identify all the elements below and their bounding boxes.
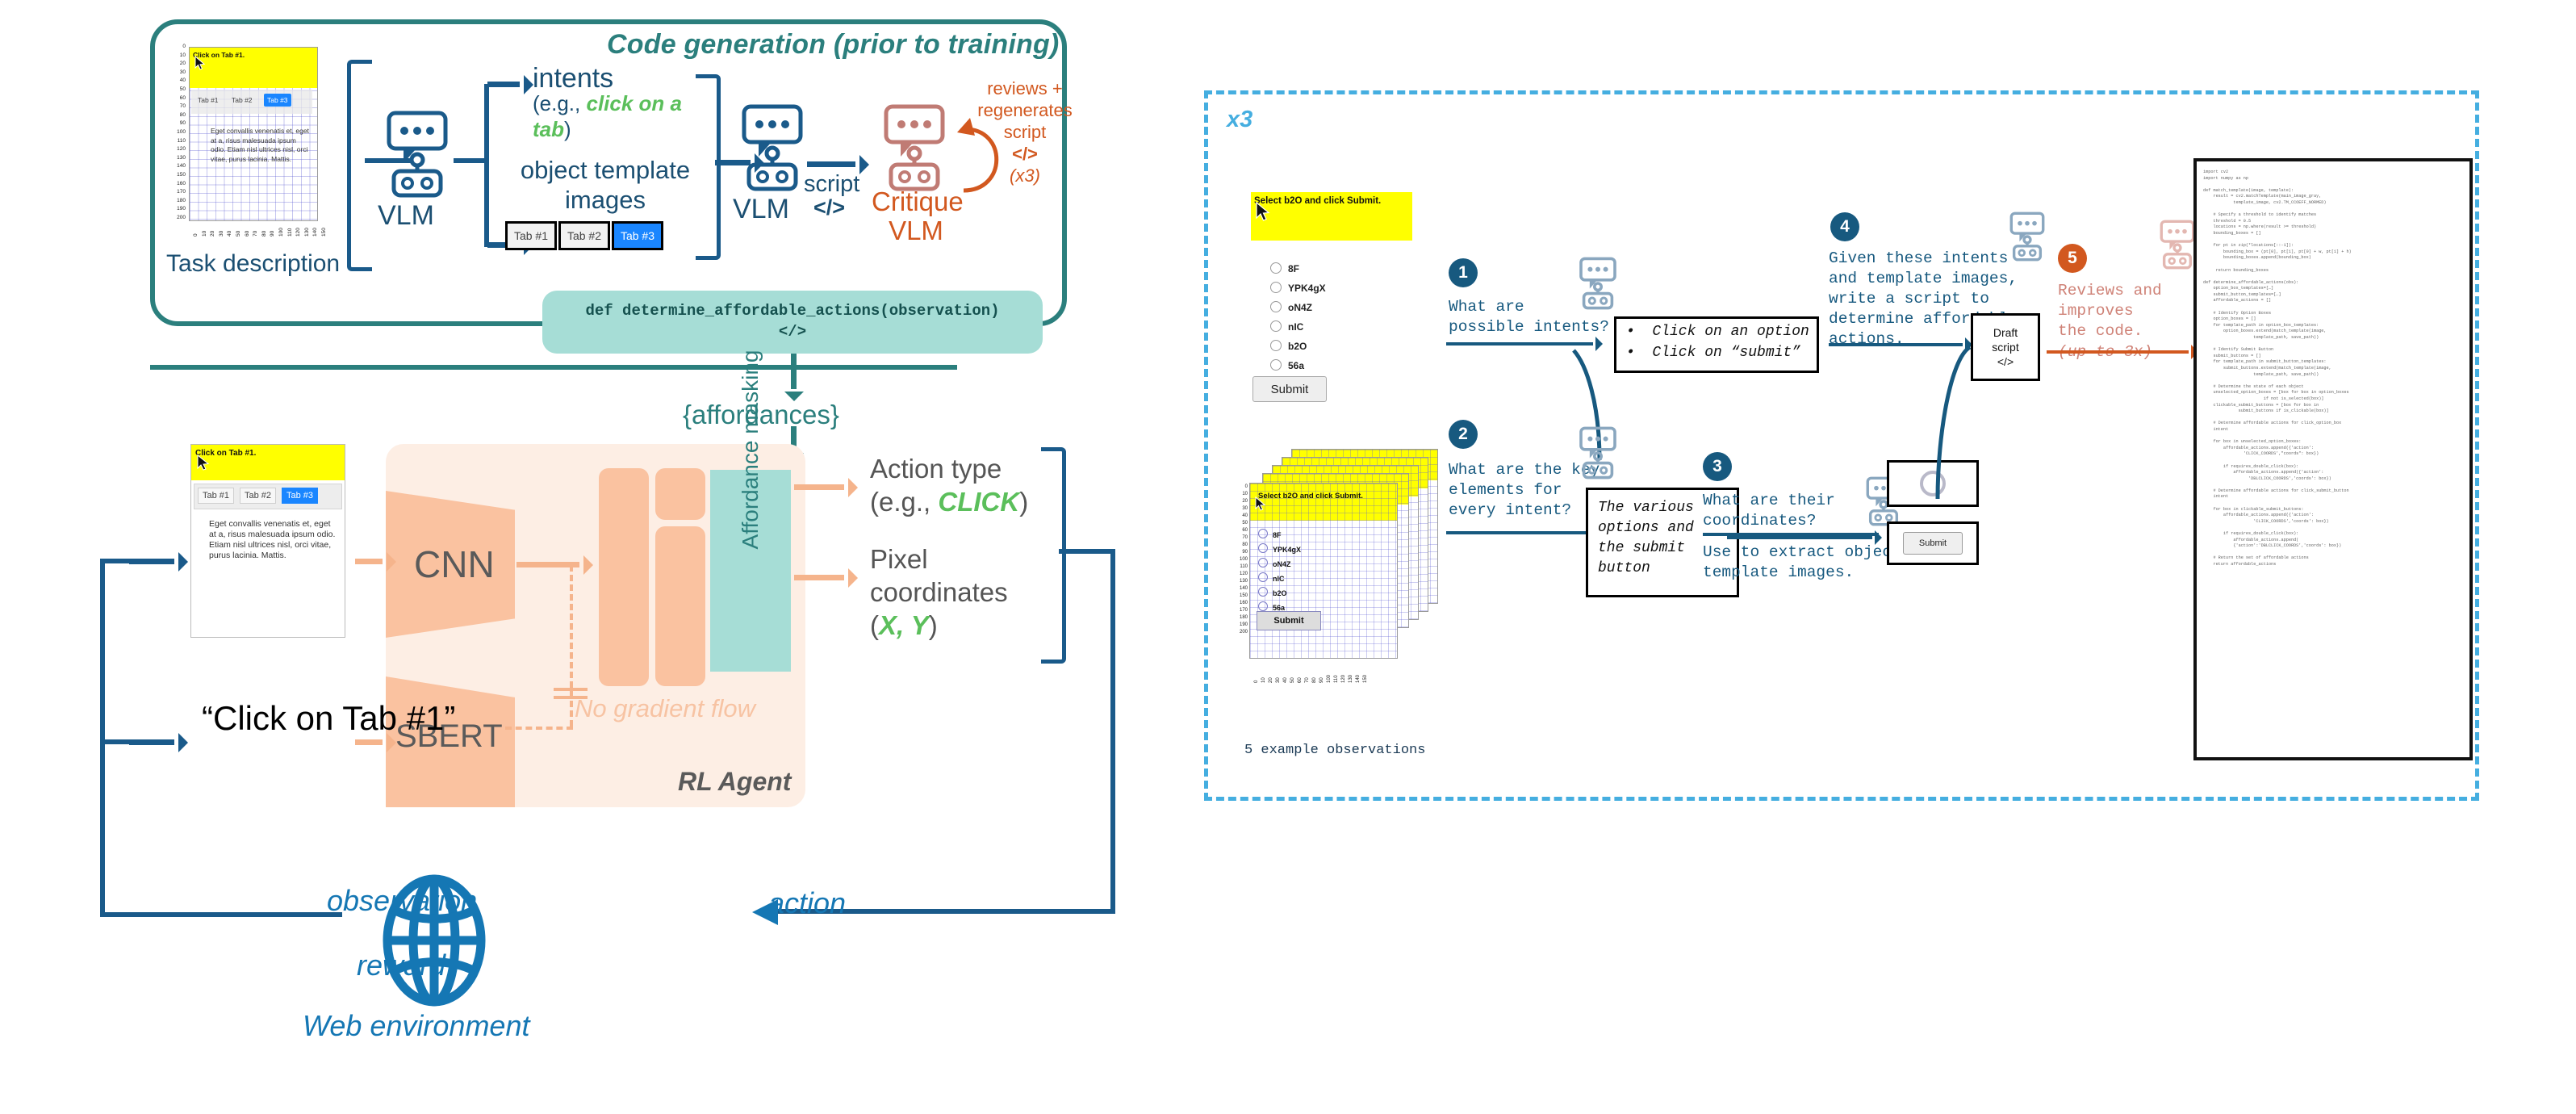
stack-y-tick: 0 [1245,484,1248,489]
stack-y-tick: 10 [1242,492,1248,496]
vlm-label-1: VLM [378,200,434,232]
step-5-text: Reviews and improves the code. [2058,281,2162,341]
pixel-coords-line1: Pixel [870,542,1008,576]
action-label: action [768,886,846,920]
cnn-label: CNN [414,542,495,586]
task-x-tick: 90 [270,231,275,237]
stack-x-tick: 150 [1363,675,1368,683]
template-chip-tab2: Tab #2 [558,221,610,250]
vlm2-robot-icon [736,103,809,192]
task-y-tick: 140 [168,163,186,169]
step-1-badge: 1 [1449,258,1478,287]
critique-vlm-label: Critique VLM [872,187,960,245]
stack-x-axis: 0102030405060708090100110120130140150 [1249,660,1396,693]
output-action-type-line2: (e.g., CLICK) [870,485,1028,518]
web-environment-label: Web environment [303,1009,529,1043]
stack-y-tick: 140 [1240,586,1248,591]
radio-icon [1258,558,1268,567]
task-x-tick: 110 [287,228,293,237]
stack-y-tick: 90 [1242,550,1248,555]
stack-x-tick: 10 [1261,677,1266,683]
answer-1-bullet-2: • Click on “submit” [1626,345,1800,361]
stack-y-tick: 50 [1242,521,1248,526]
draft-script-line2: script [1992,340,2018,354]
vlm-label-2: VLM [733,194,789,225]
task-x-tick: 150 [321,228,327,237]
stack-submit-button: Submit [1257,611,1321,630]
pixel-coords-value: X, Y [879,610,929,640]
form-banner-text: Select b2O and click Submit. [1254,196,1381,206]
template-submit-label: Submit [1903,532,1963,555]
rl-agent-label: RL Agent [678,767,791,797]
stack-x-tick: 130 [1349,675,1353,683]
action-type-suffix: ) [1019,487,1028,517]
output-bracket-stem [1059,549,1115,554]
stack-x-tick: 50 [1290,677,1295,683]
task-y-tick: 200 [168,215,186,220]
vlm-branch-stem [454,158,487,163]
form-option-4-label: nIC [1288,321,1303,333]
step-5-badge: 5 [2058,244,2087,273]
pixel-coords-prefix: ( [870,610,879,640]
stopgrad-bar-1 [554,688,588,691]
radio-icon[interactable] [1270,359,1282,371]
vlm-robot-icon-step2 [1575,426,1620,480]
task-y-tick: 120 [168,146,186,152]
task-y-tick: 100 [168,129,186,135]
form-option-4[interactable]: nIC [1270,320,1303,333]
task-tab-2: Tab #2 [228,94,256,107]
task-y-tick: 40 [168,77,186,83]
task-y-tick: 90 [168,120,186,126]
vlm-robot-icon [381,110,454,199]
task-y-tick: 0 [168,44,186,49]
stack-option-5: b2O [1258,587,1287,597]
stack-y-tick: 170 [1240,608,1248,613]
task-x-tick: 30 [219,231,224,237]
step-3-subtext: Use to extract object template images. [1703,542,1901,583]
cursor-icon [194,56,206,72]
stack-y-tick: 190 [1240,622,1248,627]
affordance-arrow-down-1 [791,354,797,389]
critique-note-glyph: </> [976,143,1073,165]
draft-script-line1: Draft [1993,325,2018,340]
action-type-prefix: (e.g., [870,487,938,517]
affordance-function-glyph: </> [542,323,1043,341]
step-4-badge: 4 [1830,212,1859,241]
observation-loop-vertical [100,559,105,917]
no-gradient-dash-vertical [570,565,573,727]
task-y-tick: 70 [168,103,186,109]
radio-icon[interactable] [1270,262,1282,274]
generated-code-screenshot: import cv2 import numpy as np def match_… [2193,158,2473,760]
stack-x-tick: 80 [1312,677,1317,683]
code-generation-title: Code generation (prior to training) [607,29,1059,61]
critique-vlm-robot-icon [878,103,951,192]
stack-x-tick: 0 [1254,681,1259,683]
intents-bracket [696,74,721,260]
stack-y-tick: 70 [1242,535,1248,540]
task-x-tick: 120 [295,228,301,237]
radio-icon [1258,572,1268,582]
observation-tab-3: Tab #3 [282,488,318,504]
task-y-tick: 160 [168,181,186,186]
stack-y-tick: 100 [1240,557,1248,562]
radio-icon[interactable] [1270,320,1282,332]
stack-option-4: nIC [1258,572,1285,583]
task-y-tick: 110 [168,138,186,144]
pixel-coords-line3: (X, Y) [870,609,1008,642]
arrow-out-action-type [794,484,844,490]
task-x-tick: 130 [304,228,310,237]
stack-y-tick: 160 [1240,601,1248,605]
arrow-to-intents [487,82,520,87]
form-option-1-label: 8F [1288,263,1299,274]
observation-paragraph: Eget convallis venenatis et, eget at a, … [209,519,338,561]
task-x-tick: 80 [261,231,267,237]
pixel-coords-suffix: ) [929,610,938,640]
task-description-label: Task description [166,250,340,278]
stack-x-tick: 140 [1356,675,1361,683]
cursor-icon [1256,202,1270,223]
task-y-tick: 20 [168,61,186,66]
template-chip-tab3: Tab #3 [612,221,663,250]
step-3-arrow [1727,536,1872,539]
stack-y-axis: 0102030405060708090100110120130140150160… [1235,483,1249,657]
radio-icon [1258,529,1268,538]
form-option-6-label: 56a [1288,360,1304,371]
task-description-screenshot: Click on Tab #1. Tab #1 Tab #2 Tab #3 Eg… [166,42,328,244]
no-gradient-dash-horizontal [505,727,573,730]
task-x-tick: 100 [278,228,284,237]
radio-icon[interactable] [1270,301,1282,312]
stack-y-tick: 60 [1242,528,1248,533]
radio-icon [1258,601,1268,611]
observation-screenshot: Click on Tab #1. Tab #1 Tab #2 Tab #3 Eg… [190,444,345,638]
form-option-3-label: oN4Z [1288,302,1312,313]
stack-option-2: YPK4gX [1258,543,1301,554]
intents-example: (e.g., click on a tab) [533,90,686,142]
task-x-tick: 20 [210,231,215,237]
task-y-tick: 150 [168,172,186,178]
repeat-badge: x3 [1227,107,1252,133]
form-submit-button[interactable]: Submit [1252,376,1327,402]
vlm-branch-vert [484,84,489,247]
observation-tab-1: Tab #1 [198,488,234,504]
form-option-2[interactable]: YPK4gX [1270,282,1326,294]
stack-y-tick: 180 [1240,615,1248,620]
object-template-label: object template images [512,155,699,215]
critique-note-text: reviews + regenerates script [977,78,1072,142]
output-pixel-coordinates: Pixel coordinates (X, Y) [870,542,1008,642]
stack-x-tick: 100 [1327,675,1332,683]
script-code-glyph: </> [813,195,845,220]
vlm-robot-icon-step1 [1575,257,1620,310]
intents-example-suffix: ) [564,117,571,141]
form-option-1[interactable]: 8F [1270,262,1299,274]
stack-y-tick: 200 [1240,630,1248,634]
stack-y-tick: 110 [1240,564,1248,569]
stack-x-tick: 110 [1334,675,1339,683]
observation-tab-2: Tab #2 [240,488,276,504]
radio-icon [1258,543,1268,553]
stack-x-tick: 30 [1276,677,1281,683]
no-gradient-flow-label: No gradient flow [575,694,755,723]
intents-example-prefix: (e.g., [533,91,586,115]
form-option-5-label: b2O [1288,341,1307,352]
action-type-value: CLICK [938,487,1019,517]
task-y-tick: 60 [168,95,186,101]
task-x-tick: 10 [202,231,207,237]
fc-bar-1 [599,468,649,686]
fc-bar-3 [655,526,705,686]
stack-y-tick: 20 [1242,499,1248,504]
template-image-submit-button: Submit [1887,521,1979,565]
task-tab-3: Tab #3 [264,94,291,107]
stack-y-tick: 30 [1242,506,1248,511]
observation-loop-top2 [100,739,132,744]
cursor-icon [1255,496,1266,513]
affordance-masking-label: Affordance masking [710,349,791,551]
stack-x-tick: 20 [1269,677,1273,683]
draft-script-line3: </> [1997,354,2014,369]
form-option-3[interactable]: oN4Z [1270,301,1312,313]
stack-y-tick: 120 [1240,572,1248,576]
pixel-coords-line2: coordinates [870,576,1008,609]
stack-x-tick: 40 [1283,677,1288,683]
stack-front-banner-text: Select b2O and click Submit. [1258,492,1363,500]
step-2-badge: 2 [1449,420,1478,449]
task-x-tick: 40 [227,231,232,237]
form-option-2-label: YPK4gX [1288,283,1326,294]
fc-bar-2 [655,468,705,520]
stack-front-grid [1250,484,1397,658]
stack-x-tick: 70 [1305,677,1310,683]
task-x-tick: 60 [245,231,250,237]
output-action-type-line1: Action type [870,452,1028,485]
task-y-tick: 170 [168,189,186,195]
step-3-badge: 3 [1703,452,1732,481]
observation-stack-front: Select b2O and click Submit. 8F YPK4gX o… [1249,483,1398,659]
obs-to-screenshot-arrow [129,559,174,564]
output-action-type: Action type (e.g., CLICK) [870,452,1028,518]
form-option-5[interactable]: b2O [1270,340,1307,352]
arrow-out-pixel-coords [794,575,844,580]
draft-script-box: Draft script </> [1971,313,2040,381]
action-down-line [1110,549,1115,914]
vlm-robot-icon-step4 [2006,211,2048,262]
radio-icon[interactable] [1270,340,1282,351]
script-label: script [804,171,859,198]
critique-note-rep: (x3) [976,165,1073,186]
cursor-icon [197,454,210,472]
task-x-tick: 0 [193,233,199,237]
stack-x-tick: 90 [1319,677,1324,683]
task-y-tick: 50 [168,86,186,92]
stack-y-tick: 40 [1242,513,1248,518]
task-y-tick: 10 [168,52,186,58]
step-1-answer-box: • Click on an option • Click on “submit” [1614,316,1819,373]
task-y-tick: 130 [168,155,186,161]
critique-note: reviews + regenerates script </> (x3) [976,77,1073,186]
screenshot-to-cnn-arrow [355,559,383,564]
form-option-6[interactable]: 56a [1270,359,1304,371]
stack-x-tick: 60 [1298,677,1303,683]
globe-icon [367,873,501,1011]
affordance-function-signature: def determine_affordable_actions(observa… [542,302,1043,320]
task-plot-area: Click on Tab #1. Tab #1 Tab #2 Tab #3 Eg… [189,47,318,221]
radio-icon[interactable] [1270,282,1282,293]
template-chip-tab1: Tab #1 [505,221,557,250]
generated-code-text: import cv2 import numpy as np def match_… [2197,161,2469,576]
affordance-function-pill: def determine_affordable_actions(observa… [542,291,1043,354]
observations-caption: 5 example observations [1244,743,1425,758]
step-3-question: What are their coordinates? [1703,491,1835,531]
task-paragraph: Eget convallis venenatis et, eget at a, … [211,127,312,164]
task-bracket [347,60,372,271]
stack-option-3: oN4Z [1258,558,1291,568]
quote-to-sbert-arrow [355,739,383,745]
task-y-tick: 30 [168,69,186,75]
instruction-quote: “Click on Tab #1” [202,698,455,739]
affordance-bus-line [150,365,957,370]
obs-to-quote-arrow [129,739,174,745]
task-y-tick: 80 [168,112,186,118]
observation-loop-top1 [100,559,132,563]
critique-robot-icon-step5 [2156,220,2198,270]
radio-icon [1258,587,1268,597]
stack-y-tick: 80 [1242,542,1248,547]
step-5-arrow [2047,350,2189,354]
task-x-tick: 70 [253,231,258,237]
arrow-script [807,161,855,167]
task-y-tick: 180 [168,198,186,203]
stack-x-tick: 120 [1341,675,1346,683]
stack-y-tick: 150 [1240,593,1248,598]
output-bracket [1041,447,1066,664]
stack-option-1: 8F [1258,529,1282,539]
stack-y-tick: 130 [1240,579,1248,584]
step-2-arrow [1446,531,1593,534]
answer-1-bullet-1: • Click on an option [1626,324,1809,340]
task-x-tick: 140 [312,228,318,237]
task-tab-1: Tab #1 [194,94,222,107]
task-x-tick: 50 [236,231,241,237]
observation-loop-bottom [100,912,342,917]
task-y-tick: 190 [168,206,186,211]
